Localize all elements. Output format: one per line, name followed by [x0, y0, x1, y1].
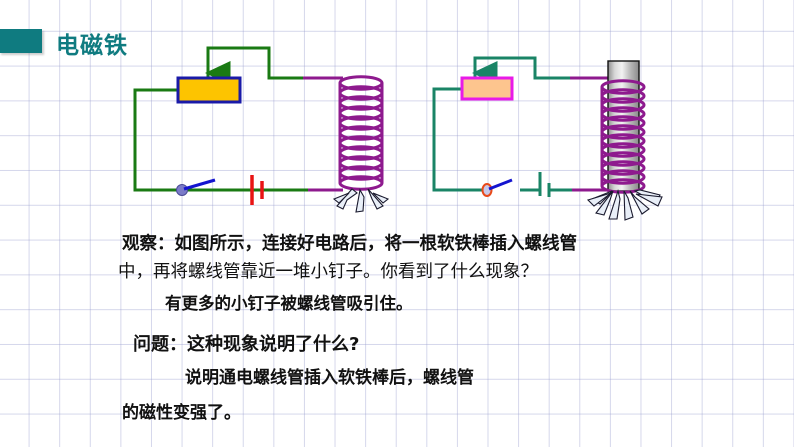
left-rheostat	[178, 78, 240, 102]
left-nails	[334, 189, 388, 212]
right-nails	[588, 190, 662, 220]
observation-answer: 有更多的小钉子被螺线管吸引住。	[165, 290, 413, 314]
right-switch-lever-icon	[489, 180, 512, 189]
right-battery	[540, 172, 549, 197]
left-solenoid-coil	[340, 77, 382, 189]
question-label: 问题：这种现象说明了什么?	[133, 330, 359, 356]
observation-line-2: 中，再将螺线管靠近一堆小钉子。你看到了什么现象？	[118, 258, 538, 283]
right-top-wire	[475, 58, 572, 78]
left-switch	[177, 180, 216, 196]
right-circuit	[434, 58, 662, 220]
left-circuit	[135, 48, 388, 212]
left-loop-wire	[135, 90, 335, 190]
right-loop-wire	[434, 89, 487, 190]
left-top-wire	[208, 48, 305, 78]
right-rheostat	[462, 78, 512, 99]
observation-line-1: 观察：如图所示，连接好电路后，将一根软铁棒插入螺线管	[122, 230, 577, 255]
question-answer-line-1: 说明通电螺线管插入软铁棒后，螺线管	[185, 363, 474, 388]
right-switch	[483, 180, 513, 196]
question-answer-line-2: 的磁性变强了。	[122, 398, 241, 423]
left-switch-lever-icon	[184, 180, 215, 189]
slide-canvas: 电磁铁	[0, 0, 794, 447]
